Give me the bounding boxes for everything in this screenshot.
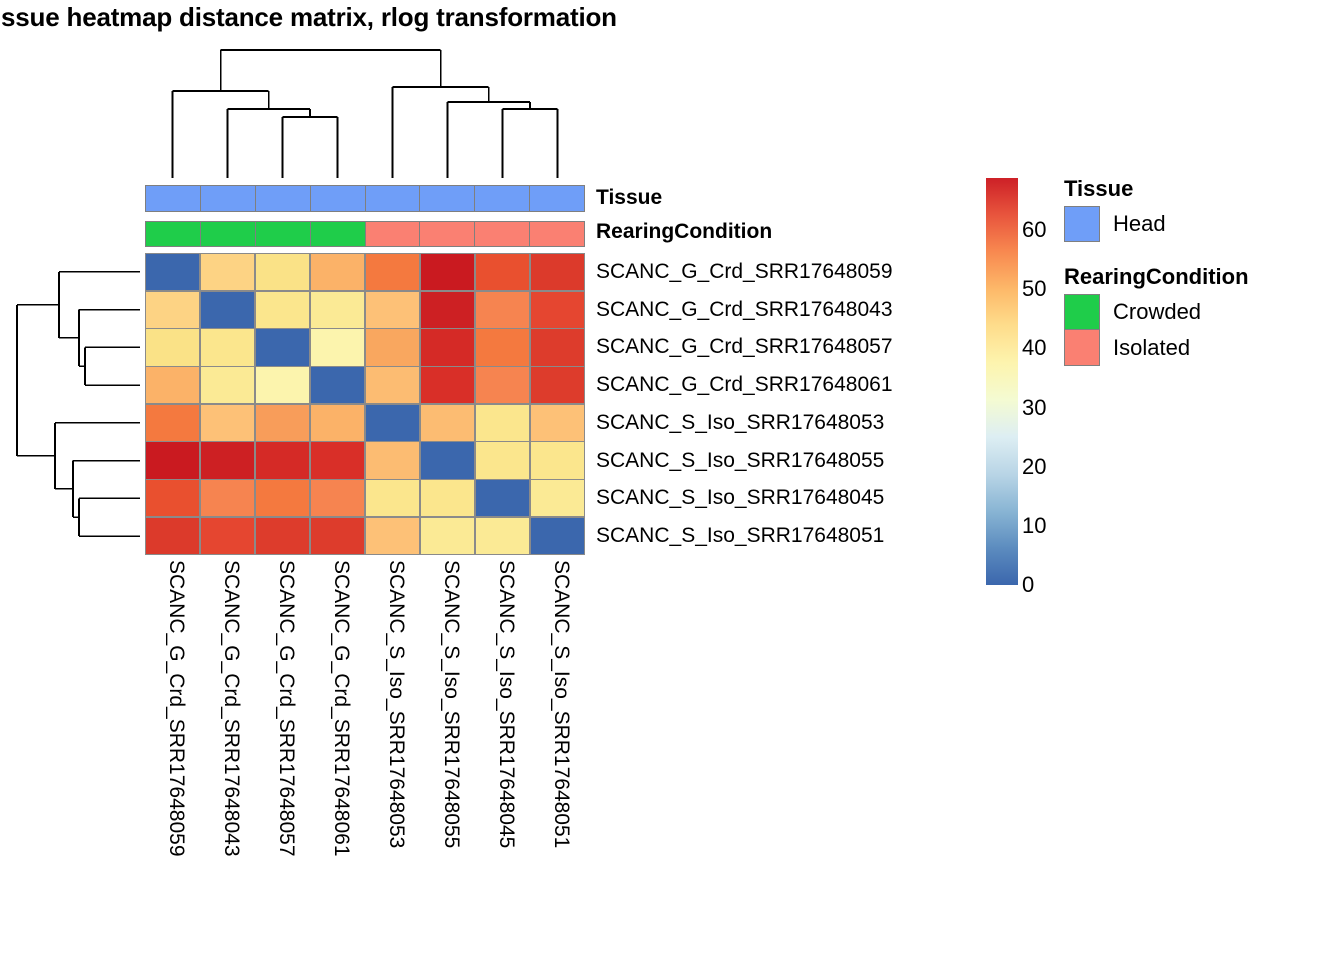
annotation-rearing-cell xyxy=(256,222,311,246)
row-labels: SCANC_G_Crd_SRR17648059SCANC_G_Crd_SRR17… xyxy=(596,253,893,555)
column-labels: SCANC_G_Crd_SRR17648059SCANC_G_Crd_SRR17… xyxy=(145,560,585,950)
heatmap-cell xyxy=(476,367,529,403)
heatmap-cell xyxy=(476,480,529,516)
annotation-bar-tissue xyxy=(145,185,585,212)
column-label-slot: SCANC_G_Crd_SRR17648043 xyxy=(200,560,255,950)
column-label-slot: SCANC_S_Iso_SRR17648053 xyxy=(365,560,420,950)
heatmap-cell xyxy=(311,442,364,478)
annotation-tissue-cell xyxy=(420,186,475,211)
annotation-rearing-cell xyxy=(475,222,530,246)
heatmap-cell xyxy=(311,254,364,290)
heatmap-cell xyxy=(366,442,419,478)
annotation-bar-rearing-condition xyxy=(145,221,585,247)
row-label: SCANC_S_Iso_SRR17648053 xyxy=(596,404,893,442)
legend-label: Head xyxy=(1113,211,1166,237)
legend-label: Crowded xyxy=(1113,299,1201,325)
heatmap-cell xyxy=(366,254,419,290)
column-label: SCANC_S_Iso_SRR17648053 xyxy=(384,560,408,848)
column-label: SCANC_S_Iso_SRR17648051 xyxy=(549,560,573,848)
colorbar-tick: 50 xyxy=(1022,276,1046,302)
heatmap-cell xyxy=(201,518,254,554)
heatmap-cell xyxy=(311,480,364,516)
row-label: SCANC_G_Crd_SRR17648059 xyxy=(596,253,893,291)
column-label-slot: SCANC_G_Crd_SRR17648061 xyxy=(310,560,365,950)
heatmap-cell xyxy=(476,405,529,441)
annotation-tissue-cell xyxy=(146,186,201,211)
heatmap-cell xyxy=(146,367,199,403)
heatmap-cell xyxy=(146,254,199,290)
heatmap-cell xyxy=(476,329,529,365)
heatmap-cell xyxy=(201,367,254,403)
legend-block: TissueHead xyxy=(1064,176,1334,242)
annotation-label-tissue: Tissue xyxy=(596,186,662,210)
heatmap-cell xyxy=(476,442,529,478)
column-label: SCANC_S_Iso_SRR17648045 xyxy=(494,560,518,848)
heatmap-cell xyxy=(421,329,474,365)
colorbar-tick: 0 xyxy=(1022,572,1034,598)
legend-title: Tissue xyxy=(1064,176,1334,202)
column-label: SCANC_S_Iso_SRR17648055 xyxy=(439,560,463,848)
row-label: SCANC_S_Iso_SRR17648051 xyxy=(596,517,893,555)
heatmap-cell xyxy=(531,518,584,554)
heatmap-cell xyxy=(366,405,419,441)
column-label-slot: SCANC_S_Iso_SRR17648045 xyxy=(475,560,530,950)
heatmap-cell xyxy=(311,367,364,403)
heatmap-cell xyxy=(201,405,254,441)
heatmap-cell xyxy=(311,518,364,554)
column-label: SCANC_G_Crd_SRR17648061 xyxy=(329,560,353,857)
heatmap-cell xyxy=(366,292,419,328)
annotation-tissue-cell xyxy=(366,186,421,211)
legend-swatch xyxy=(1064,294,1100,330)
column-label-slot: SCANC_G_Crd_SRR17648057 xyxy=(255,560,310,950)
heatmap-cell xyxy=(256,367,309,403)
annotation-tissue-cell xyxy=(311,186,366,211)
heatmap-cell xyxy=(476,292,529,328)
row-label: SCANC_G_Crd_SRR17648057 xyxy=(596,329,893,367)
heatmap-cell xyxy=(201,329,254,365)
legend-item: Isolated xyxy=(1064,330,1334,366)
legend-items: CrowdedIsolated xyxy=(1064,294,1334,366)
annotation-rearing-cell xyxy=(201,222,256,246)
column-label: SCANC_G_Crd_SRR17648057 xyxy=(274,560,298,857)
heatmap-cell xyxy=(201,480,254,516)
heatmap-cell xyxy=(311,292,364,328)
heatmap-cell xyxy=(146,329,199,365)
annotation-rearing-cell xyxy=(420,222,475,246)
legend-label: Isolated xyxy=(1113,335,1190,361)
heatmap-cell xyxy=(146,405,199,441)
heatmap-cell xyxy=(531,480,584,516)
annotation-tissue-cell xyxy=(201,186,256,211)
row-label: SCANC_S_Iso_SRR17648055 xyxy=(596,442,893,480)
heatmap-cell xyxy=(201,254,254,290)
heatmap-cell xyxy=(421,367,474,403)
heatmap-cell xyxy=(256,442,309,478)
heatmap-cell xyxy=(256,405,309,441)
legend-title: RearingCondition xyxy=(1064,264,1334,290)
heatmap-cell xyxy=(421,292,474,328)
legend-swatch xyxy=(1064,206,1100,242)
heatmap-cell xyxy=(146,442,199,478)
heatmap-cell xyxy=(146,480,199,516)
heatmap-cell xyxy=(421,480,474,516)
heatmap-cell xyxy=(311,405,364,441)
annotation-tissue-cell xyxy=(475,186,530,211)
heatmap-cell xyxy=(421,518,474,554)
heatmap-cell xyxy=(531,254,584,290)
legend-items: Head xyxy=(1064,206,1334,242)
column-dendrogram xyxy=(145,46,585,178)
row-label: SCANC_G_Crd_SRR17648061 xyxy=(596,366,893,404)
heatmap-cell xyxy=(421,254,474,290)
legend-block: RearingConditionCrowdedIsolated xyxy=(1064,264,1334,366)
heatmap-cell xyxy=(366,480,419,516)
heatmap-cell xyxy=(421,442,474,478)
heatmap-cell xyxy=(256,292,309,328)
heatmap-cell xyxy=(531,292,584,328)
column-label: SCANC_G_Crd_SRR17648043 xyxy=(219,560,243,857)
column-label-slot: SCANC_S_Iso_SRR17648055 xyxy=(420,560,475,950)
heatmap-cell xyxy=(366,518,419,554)
heatmap-cell xyxy=(476,518,529,554)
legend-item: Head xyxy=(1064,206,1334,242)
heatmap-cell xyxy=(366,329,419,365)
legend-panel: TissueHeadRearingConditionCrowdedIsolate… xyxy=(1064,176,1334,388)
heatmap-cell xyxy=(201,442,254,478)
colorbar-tick: 60 xyxy=(1022,217,1046,243)
heatmap-cell xyxy=(256,518,309,554)
heatmap-cell xyxy=(256,480,309,516)
heatmap-cell xyxy=(311,329,364,365)
heatmap-cell xyxy=(531,367,584,403)
colorbar-tick: 30 xyxy=(1022,395,1046,421)
colorbar-tick: 40 xyxy=(1022,335,1046,361)
heatmap-cell xyxy=(146,518,199,554)
heatmap-cell xyxy=(201,292,254,328)
heatmap-cell xyxy=(146,292,199,328)
heatmap-cell xyxy=(531,329,584,365)
annotation-tissue-cell xyxy=(530,186,584,211)
colorbar-gradient xyxy=(986,178,1018,585)
annotation-rearing-cell xyxy=(146,222,201,246)
heatmap-cell xyxy=(476,254,529,290)
colorbar-tick: 10 xyxy=(1022,513,1046,539)
heatmap-cell xyxy=(366,367,419,403)
row-dendrogram xyxy=(8,253,140,555)
heatmap-cell xyxy=(531,405,584,441)
legend-swatch xyxy=(1064,330,1100,366)
heatmap-cell xyxy=(256,329,309,365)
annotation-label-rearing-condition: RearingCondition xyxy=(596,220,772,244)
annotation-rearing-cell xyxy=(366,222,421,246)
column-label: SCANC_G_Crd_SRR17648059 xyxy=(164,560,188,857)
legend-item: Crowded xyxy=(1064,294,1334,330)
heatmap-grid xyxy=(145,253,585,555)
column-label-slot: SCANC_S_Iso_SRR17648051 xyxy=(530,560,585,950)
annotation-tissue-cell xyxy=(256,186,311,211)
annotation-rearing-cell xyxy=(311,222,366,246)
heatmap-cell xyxy=(531,442,584,478)
page-title: issue heatmap distance matrix, rlog tran… xyxy=(0,2,617,33)
colorbar-tick-labels: 6050403020100 xyxy=(1022,178,1068,585)
heatmap-cell xyxy=(421,405,474,441)
annotation-rearing-cell xyxy=(530,222,584,246)
colorbar-tick: 20 xyxy=(1022,454,1046,480)
row-label: SCANC_G_Crd_SRR17648043 xyxy=(596,291,893,329)
row-label: SCANC_S_Iso_SRR17648045 xyxy=(596,480,893,518)
heatmap-cell xyxy=(256,254,309,290)
column-label-slot: SCANC_G_Crd_SRR17648059 xyxy=(145,560,200,950)
